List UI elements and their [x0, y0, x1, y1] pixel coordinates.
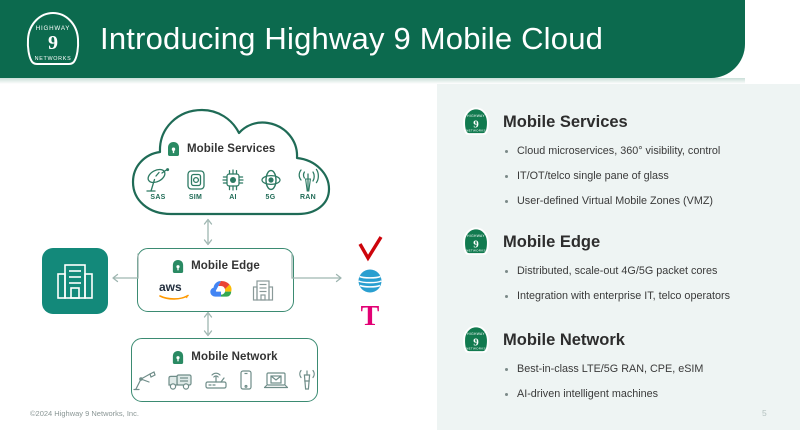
edge-to-carriers-connector	[290, 252, 348, 284]
cloud-icon-caption: RAN	[293, 194, 323, 201]
svg-text:HIGHWAY: HIGHWAY	[467, 234, 485, 238]
network-icon-row	[133, 369, 316, 391]
section-header: HIGHWAY 9 NETWORKS Mobile Services	[461, 106, 791, 138]
panel-section-mobile-edge: HIGHWAY 9 NETWORKS Mobile Edge Distribut…	[461, 226, 791, 315]
cloud-icon-5g: 5G	[256, 168, 286, 201]
details-panel: HIGHWAY 9 NETWORKS Mobile Services Cloud…	[437, 84, 800, 430]
page-title: Introducing Highway 9 Mobile Cloud	[100, 21, 603, 57]
highway-9-shield-badge-icon: HIGHWAY 9 NETWORKS	[461, 324, 491, 356]
aws-logo: aws	[157, 279, 191, 301]
cloud-label: Mobile Services	[187, 143, 275, 155]
bullet-item: Cloud microservices, 360° visibility, co…	[505, 145, 791, 158]
smartphone-icon	[238, 369, 254, 391]
wifi-router-icon	[203, 369, 229, 391]
ai-chip-icon	[218, 168, 248, 194]
robot-arm-icon	[133, 369, 157, 391]
enterprise-building-tile	[42, 248, 108, 314]
panel-section-mobile-network: HIGHWAY 9 NETWORKS Mobile Network Best-i…	[461, 324, 791, 413]
cloud-icon-caption: AI	[218, 194, 248, 201]
section-title: Mobile Edge	[503, 233, 600, 252]
section-title: Mobile Network	[503, 331, 625, 350]
logo-bottom-text: NETWORKS	[35, 56, 72, 62]
edge-header: Mobile Edge	[171, 259, 260, 274]
highway-9-shield-badge-icon: HIGHWAY 9 NETWORKS	[461, 106, 491, 138]
bullet-item: AI-driven intelligent machines	[505, 388, 791, 401]
att-logo	[355, 266, 385, 296]
cloud-icon-sas: SAS	[143, 168, 173, 201]
laptop-mail-icon	[263, 369, 289, 391]
svg-text:NETWORKS: NETWORKS	[466, 129, 486, 133]
cloud-icon-sim: SIM	[181, 168, 211, 201]
logo-number: 9	[48, 32, 58, 54]
cloud-icon-row: SAS SIM	[143, 168, 323, 201]
bullet-item: Best-in-class LTE/5G RAN, CPE, eSIM	[505, 363, 791, 376]
network-header: Mobile Network	[171, 350, 277, 365]
lock-shield-icon	[166, 141, 181, 157]
panel-section-mobile-services: HIGHWAY 9 NETWORKS Mobile Services Cloud…	[461, 106, 791, 220]
carrier-logos: T	[346, 236, 394, 330]
logo-top-text: HIGHWAY	[36, 25, 70, 32]
ran-tower-icon	[293, 168, 323, 194]
svg-text:HIGHWAY: HIGHWAY	[467, 332, 485, 336]
svg-text:NETWORKS: NETWORKS	[466, 347, 486, 351]
edge-logo-row: aws	[157, 278, 275, 302]
svg-text:NETWORKS: NETWORKS	[466, 249, 486, 253]
bullet-item: IT/OT/telco single pane of glass	[505, 170, 791, 183]
autonomous-vehicle-icon	[166, 369, 194, 391]
edge-to-enterprise-connector	[108, 252, 142, 284]
network-label: Mobile Network	[191, 351, 277, 363]
bullet-item: User-defined Virtual Mobile Zones (VMZ)	[505, 195, 791, 208]
cloud-icon-caption: SAS	[143, 194, 173, 201]
cloud-icon-ran: RAN	[293, 168, 323, 201]
slide-header: HIGHWAY 9 NETWORKS Introducing Highway 9…	[0, 0, 745, 78]
section-header: HIGHWAY 9 NETWORKS Mobile Network	[461, 324, 791, 356]
mobile-edge-box: Mobile Edge aws	[137, 248, 294, 312]
satellite-dish-icon	[143, 168, 173, 194]
building-icon	[54, 260, 96, 302]
edge-to-network-connector	[200, 310, 216, 338]
sim-chip-icon	[181, 168, 211, 194]
t-mobile-logo: T	[355, 298, 385, 330]
cloud-icon-caption: 5G	[256, 194, 286, 201]
section-header: HIGHWAY 9 NETWORKS Mobile Edge	[461, 226, 791, 258]
page-number: 5	[762, 408, 767, 418]
bullet-item: Integration with enterprise IT, telco op…	[505, 290, 791, 303]
section-bullets: Cloud microservices, 360° visibility, co…	[461, 145, 791, 208]
antenna-tower-icon	[298, 369, 316, 391]
cloud-header: Mobile Services	[166, 141, 275, 157]
section-bullets: Distributed, scale-out 4G/5G packet core…	[461, 265, 791, 303]
mobile-services-cloud	[126, 102, 338, 220]
cloud-icon-ai: AI	[218, 168, 248, 201]
slide-canvas: HIGHWAY 9 NETWORKS Introducing Highway 9…	[0, 0, 800, 430]
enterprise-building-icon	[251, 278, 275, 302]
verizon-logo	[355, 236, 385, 264]
cloud-icon-caption: SIM	[181, 194, 211, 201]
cloud-to-edge-connector	[200, 216, 216, 248]
edge-label: Mobile Edge	[191, 260, 260, 272]
svg-text:aws: aws	[159, 280, 182, 294]
architecture-diagram: Mobile Services SAS	[0, 84, 437, 430]
section-title: Mobile Services	[503, 113, 628, 132]
google-cloud-logo	[209, 279, 233, 301]
copyright-notice: ©2024 Highway 9 Networks, Inc.	[30, 409, 139, 418]
section-bullets: Best-in-class LTE/5G RAN, CPE, eSIM AI-d…	[461, 363, 791, 401]
bullet-item: Distributed, scale-out 4G/5G packet core…	[505, 265, 791, 278]
mobile-network-box: Mobile Network	[131, 338, 318, 402]
svg-text:T: T	[361, 301, 380, 332]
svg-text:HIGHWAY: HIGHWAY	[467, 114, 485, 118]
lock-shield-icon	[171, 350, 185, 365]
highway-9-shield-logo: HIGHWAY 9 NETWORKS	[20, 9, 86, 69]
atom-5g-icon	[256, 168, 286, 194]
highway-9-shield-badge-icon: HIGHWAY 9 NETWORKS	[461, 226, 491, 258]
lock-shield-icon	[171, 259, 185, 274]
